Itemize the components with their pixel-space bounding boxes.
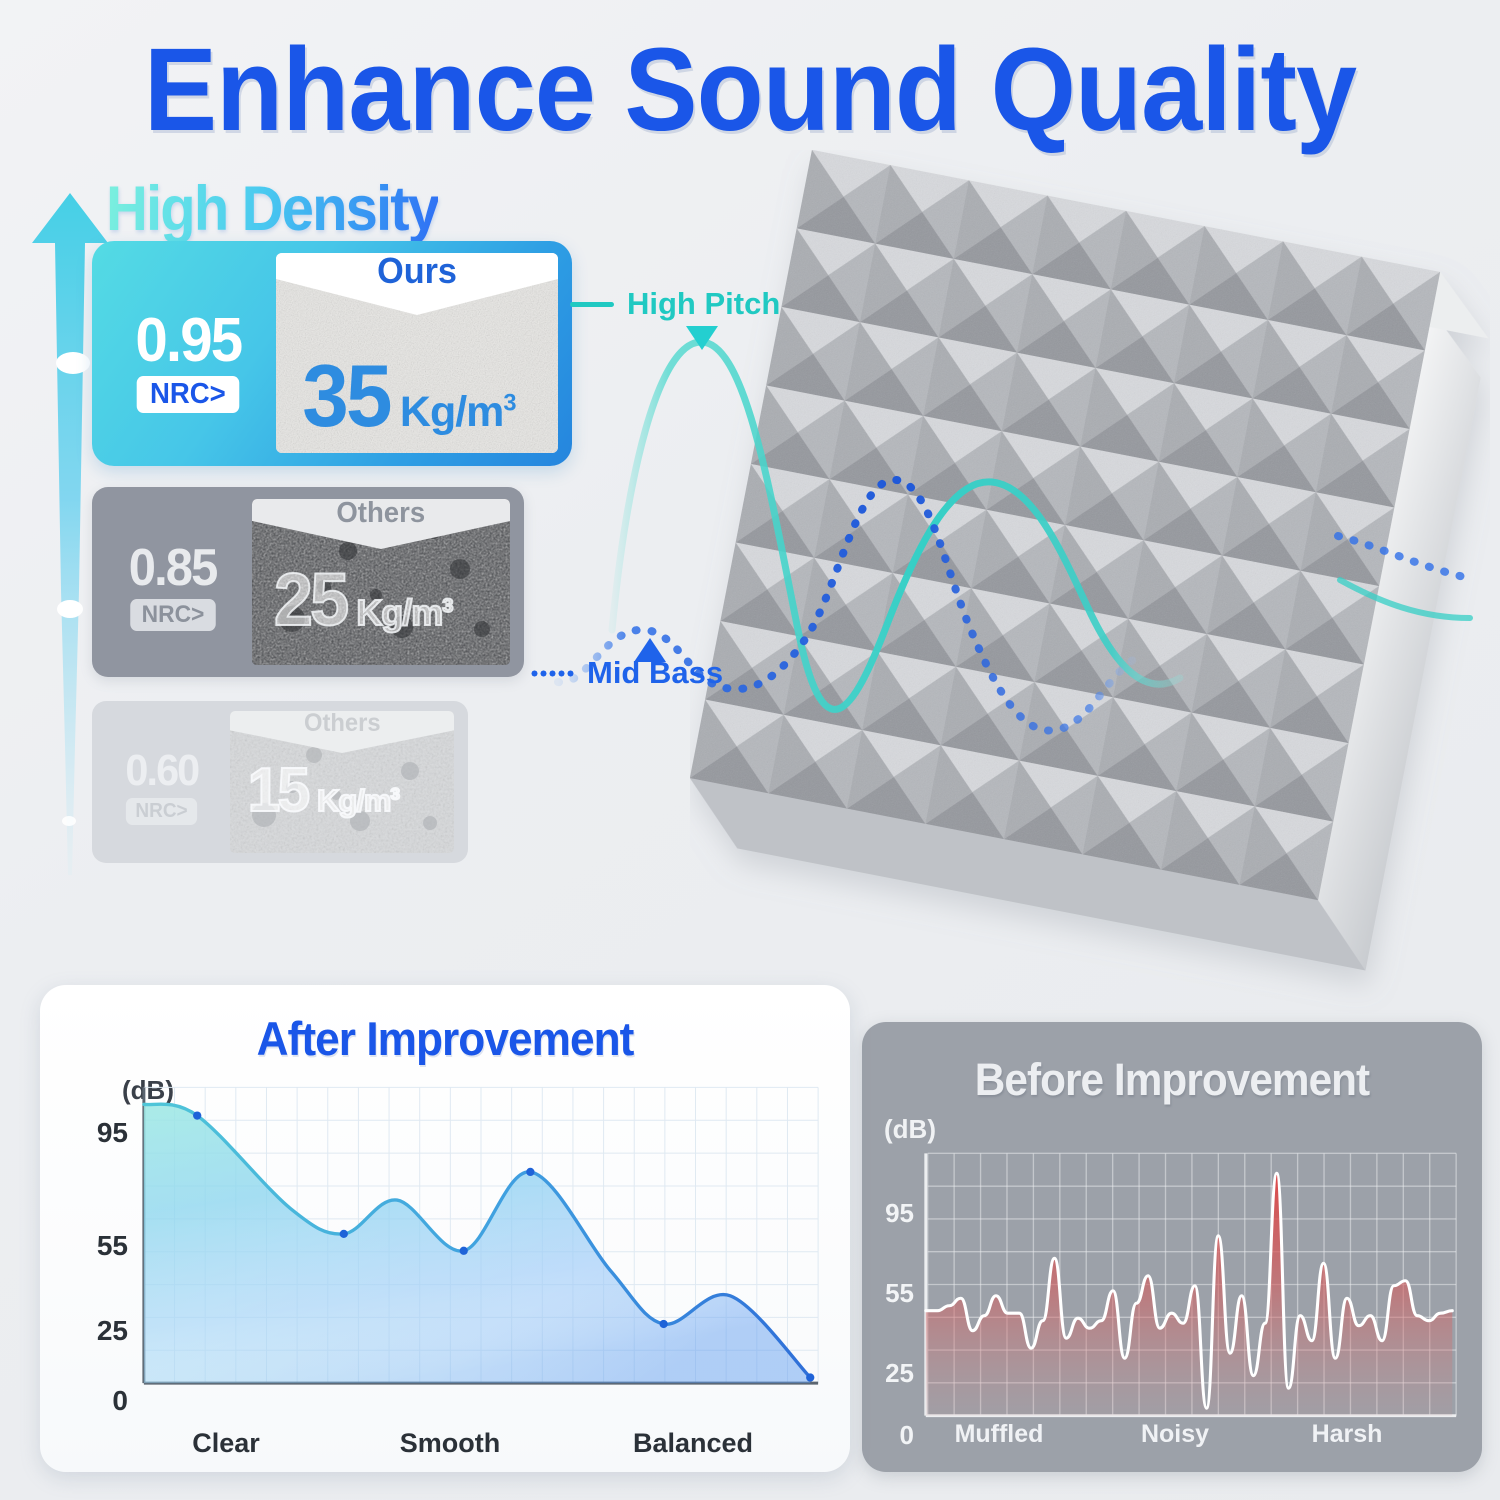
chart-title-after: After Improvement: [64, 1011, 825, 1066]
nrc-value: 0.60: [126, 751, 199, 791]
density-unit: Kg/m3: [356, 592, 452, 634]
data-point: [659, 1320, 667, 1328]
chart-panel-after-improvement: After Improvement (dB) 95 55 25 0: [40, 985, 850, 1472]
chart-panel-before-improvement: Before Improvement (dB) 95 55 25 0 Muffl…: [862, 1022, 1482, 1472]
nrc-label: NRC>: [137, 376, 239, 413]
legend-mid-bass: Mid Bass: [530, 655, 723, 691]
legend-label: Mid Bass: [587, 655, 723, 691]
data-point: [340, 1230, 348, 1238]
y-tick-before-0: 95: [858, 1198, 914, 1229]
density-value-ours: 35 Kg/m3: [300, 345, 516, 447]
unit-superscript: 3: [503, 391, 515, 417]
density-unit: Kg/m3: [317, 783, 399, 819]
unit-superscript: 3: [390, 785, 398, 804]
unit-superscript: 3: [442, 595, 452, 617]
y-tick-after-1: 55: [72, 1230, 128, 1262]
nrc-block-others-25: 0.85 NRC>: [114, 545, 232, 631]
density-number: 25: [274, 557, 346, 642]
data-point: [460, 1247, 468, 1255]
foam-swatch-others-25: Others 25 Kg/m3: [252, 499, 510, 665]
page-title: Enhance Sound Quality: [53, 22, 1448, 158]
x-tick-before-1: Noisy: [1080, 1420, 1270, 1449]
density-card-others-25: 0.85 NRC>: [92, 487, 524, 677]
data-point: [806, 1373, 814, 1381]
data-point: [526, 1168, 534, 1176]
nrc-label: NRC>: [126, 798, 197, 825]
density-value-others-15: 15 Kg/m3: [246, 755, 399, 826]
foam-swatch-ours: Ours 35 Kg/m3: [276, 253, 558, 453]
y-tick-before-1: 55: [858, 1278, 914, 1309]
unit-text: Kg/m: [400, 388, 504, 436]
x-tick-before-2: Harsh: [1252, 1420, 1442, 1449]
unit-text: Kg/m: [356, 592, 442, 633]
y-tick-after-2: 25: [72, 1315, 128, 1347]
dotted-line-icon: [530, 669, 574, 678]
banner-label: Ours: [377, 253, 457, 290]
density-card-others-15: 0.60 NRC>: [92, 701, 468, 863]
y-axis-unit-before: (dB): [884, 1114, 936, 1145]
legend-label: High Pitch: [627, 286, 780, 322]
density-card-ours: 0.95 NRC> Ours 35: [92, 241, 572, 466]
banner-label: Others: [304, 711, 381, 737]
chart-title-before: Before Improvement: [881, 1054, 1464, 1106]
chart-plot-after: [136, 1085, 826, 1425]
nrc-label: NRC>: [130, 599, 216, 631]
y-tick-after-0: 95: [72, 1117, 128, 1149]
banner-label: Others: [337, 499, 426, 529]
foam-swatch-others-15: Others 15 Kg/m3: [230, 711, 454, 853]
nrc-value: 0.95: [135, 313, 241, 369]
y-tick-before-2: 25: [858, 1358, 914, 1389]
data-point: [193, 1111, 201, 1119]
density-number: 35: [302, 345, 389, 447]
high-density-heading: High Density: [106, 173, 438, 245]
x-tick-after-0: Clear: [126, 1428, 326, 1459]
solid-line-icon: [570, 302, 614, 307]
nrc-block-ours: 0.95 NRC>: [118, 313, 258, 413]
nrc-value: 0.85: [129, 545, 217, 592]
y-tick-after-3: 0: [72, 1385, 128, 1417]
x-tick-after-1: Smooth: [350, 1428, 550, 1459]
infographic-canvas: Enhance Sound Quality High Density 0.95: [0, 0, 1500, 1500]
chart-plot-before: [920, 1148, 1460, 1448]
density-unit: Kg/m3: [400, 388, 516, 437]
x-tick-after-2: Balanced: [588, 1428, 798, 1459]
x-tick-before-0: Muffled: [904, 1420, 1094, 1449]
unit-text: Kg/m: [317, 783, 391, 818]
density-value-others-25: 25 Kg/m3: [272, 557, 452, 642]
legend-high-pitch: High Pitch: [570, 286, 780, 322]
nrc-block-others-15: 0.60 NRC>: [112, 751, 212, 825]
density-number: 15: [248, 755, 308, 826]
